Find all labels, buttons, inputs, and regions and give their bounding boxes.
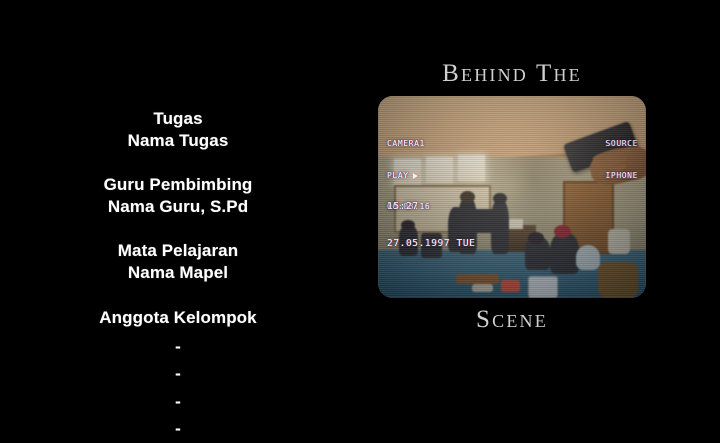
credit-group-guru: Guru Pembimbing Nama Guru, S.Pd [0,174,356,218]
osd-source-value: IPHONE [606,171,639,182]
osd-bottom-left: 15:27 27.05.1997 TUE [387,176,475,276]
osd-top-right: SOURCE IPHONE [606,118,639,202]
slide-canvas: Tugas Nama Tugas Guru Pembimbing Nama Gu… [0,0,720,405]
title-bottom: Scene [378,306,646,334]
member-dash: - [0,388,356,416]
credit-group-tugas: Tugas Nama Tugas [0,108,356,152]
credit-line: Tugas [0,108,356,130]
credit-line: Nama Mapel [0,262,356,284]
member-dash: - [0,333,356,361]
credit-line: Anggota Kelompok [0,307,356,329]
osd-source-label: SOURCE [606,139,639,150]
member-dash-list: - - - - [0,333,356,443]
osd-clock: 15:27 [387,201,475,214]
member-dash: - [0,415,356,443]
credit-group-anggota: Anggota Kelompok - - - - [0,307,356,443]
osd-camera-label: CAMERA1 [387,139,430,150]
credit-line: Nama Tugas [0,130,356,152]
title-top: Behind The [378,60,646,88]
osd-date: 27.05.1997 TUE [387,238,475,251]
credit-line: Mata Pelajaran [0,240,356,262]
credit-group-mapel: Mata Pelajaran Nama Mapel [0,240,356,284]
credit-line: Nama Guru, S.Pd [0,196,356,218]
credit-line: Guru Pembimbing [0,174,356,196]
credits-block: Tugas Nama Tugas Guru Pembimbing Nama Gu… [0,108,356,443]
vhs-photo: CAMERA1 PLAY 00:08:16 SOURCE IPHONE 15:2… [378,96,646,298]
member-dash: - [0,360,356,388]
